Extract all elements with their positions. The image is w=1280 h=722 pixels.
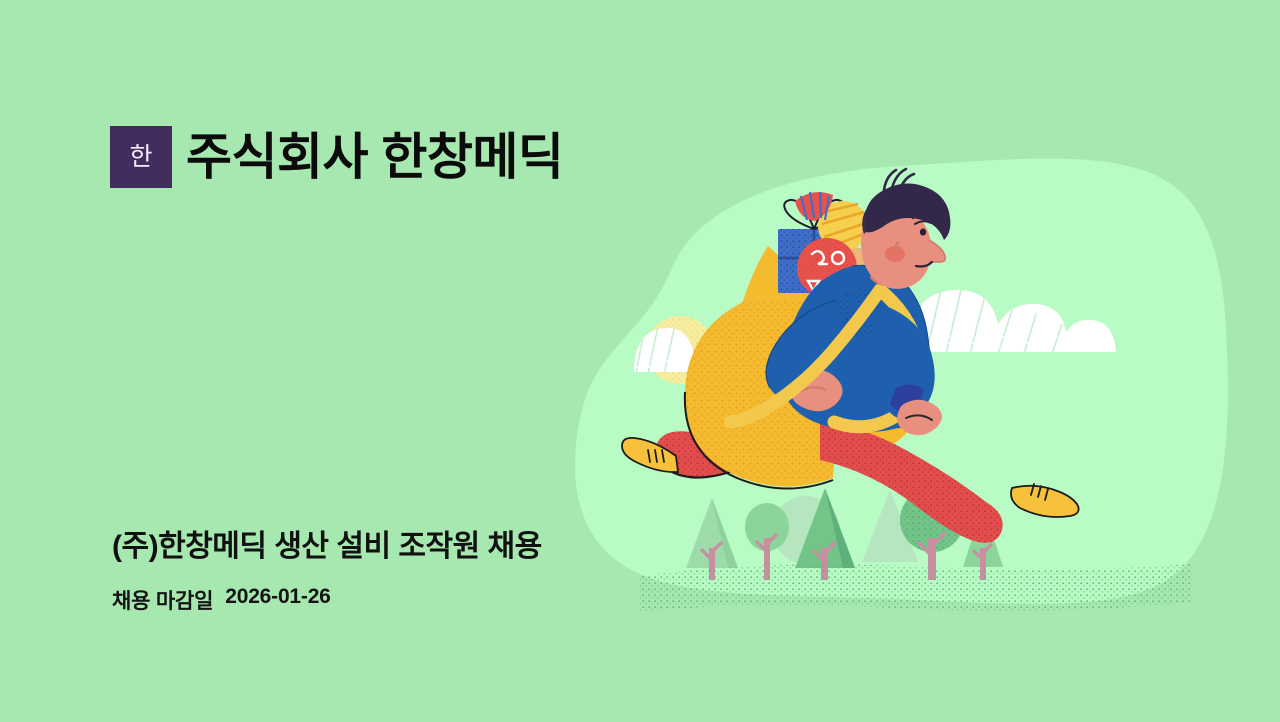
job-posting-poster: 한 주식회사 한창메딕 (주)한창메딕 생산 설비 조작원 채용 채용 마감일 … xyxy=(0,0,1280,722)
deadline-row: 채용 마감일 2026-01-26 xyxy=(112,585,331,615)
deadline-label: 채용 마감일 xyxy=(112,585,213,615)
company-initial-badge: 한 xyxy=(110,126,172,188)
deadline-date: 2026-01-26 xyxy=(225,585,330,615)
company-name: 주식회사 한창메딕 xyxy=(186,131,563,184)
job-title: (주)한창메딕 생산 설비 조작원 채용 xyxy=(112,521,542,565)
company-title-row: 한 주식회사 한창메딕 xyxy=(110,126,563,188)
ground-band xyxy=(640,564,1192,612)
